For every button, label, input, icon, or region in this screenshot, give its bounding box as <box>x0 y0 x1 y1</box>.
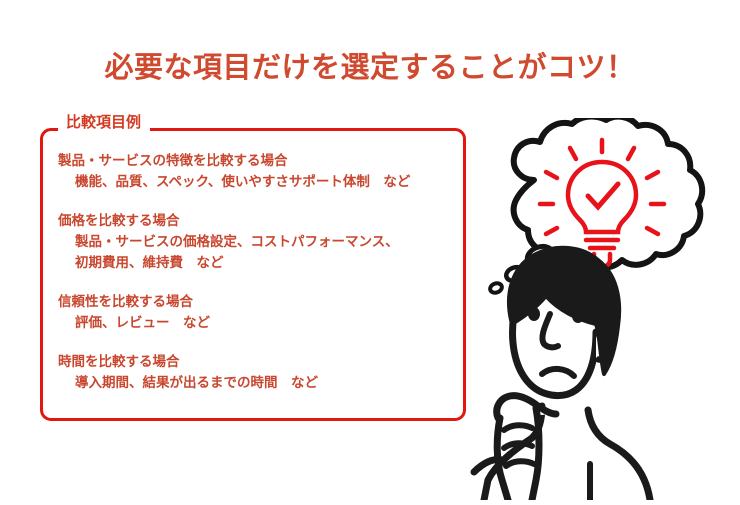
comparison-items-list: 製品・サービスの特徴を比較する場合 機能、品質、スペック、使いやすさサポート体制… <box>58 150 458 393</box>
block-line: 機能、品質、スペック、使いやすさサポート体制 など <box>58 171 458 192</box>
block-line: 製品・サービスの価格設定、コストパフォーマンス、 <box>58 231 458 252</box>
list-item: 時間を比較する場合 導入期間、結果が出るまでの時間 など <box>58 351 458 393</box>
block-heading: 信頼性を比較する場合 <box>58 291 458 312</box>
list-item: 信頼性を比較する場合 評価、レビュー など <box>58 291 458 333</box>
block-heading: 時間を比較する場合 <box>58 351 458 372</box>
page-title: 必要な項目だけを選定することがコツ！ <box>0 44 740 86</box>
slide-canvas: 必要な項目だけを選定することがコツ！ 比較項目例 製品・サービスの特徴を比較する… <box>0 0 740 505</box>
block-line: 導入期間、結果が出るまでの時間 など <box>58 372 458 393</box>
block-heading: 価格を比較する場合 <box>58 210 458 231</box>
block-line: 評価、レビュー など <box>58 312 458 333</box>
thinking-person-illustration <box>470 118 732 500</box>
block-line: 初期費用、維持費 など <box>58 252 458 273</box>
block-heading: 製品・サービスの特徴を比較する場合 <box>58 150 458 171</box>
list-item: 製品・サービスの特徴を比較する場合 機能、品質、スペック、使いやすさサポート体制… <box>58 150 458 192</box>
frame-label: 比較項目例 <box>58 114 150 132</box>
list-item: 価格を比較する場合 製品・サービスの価格設定、コストパフォーマンス、 初期費用、… <box>58 210 458 273</box>
